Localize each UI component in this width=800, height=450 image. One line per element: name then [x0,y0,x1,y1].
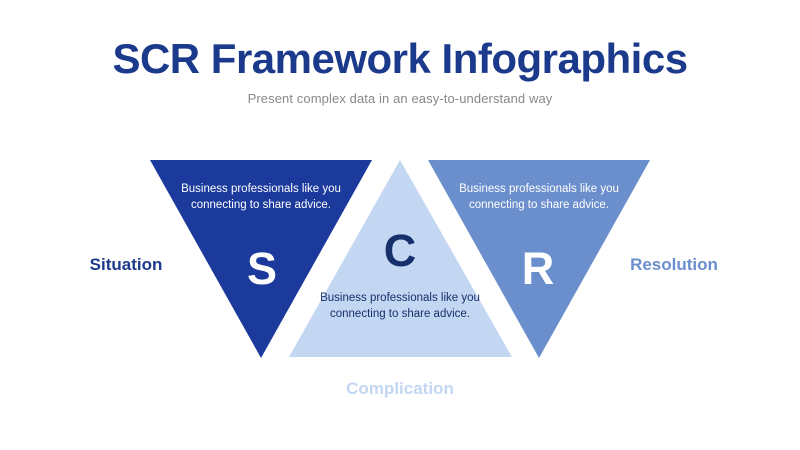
triangle-complication-letter: C [370,228,430,273]
scr-diagram: Business professionals like you connecti… [0,0,800,450]
triangle-situation-letter: S [232,246,292,291]
triangle-situation-body: Business professionals like you connecti… [179,181,343,214]
triangle-resolution-letter: R [508,246,568,291]
stage-label-complication[interactable]: Complication [310,379,490,399]
triangle-complication-body: Business professionals like you connecti… [318,290,482,323]
stage-label-situation[interactable]: Situation [36,255,216,275]
stage-label-resolution[interactable]: Resolution [584,255,764,275]
triangle-resolution-body: Business professionals like you connecti… [457,181,621,214]
infographic-slide: SCR Framework Infographics Present compl… [0,0,800,450]
